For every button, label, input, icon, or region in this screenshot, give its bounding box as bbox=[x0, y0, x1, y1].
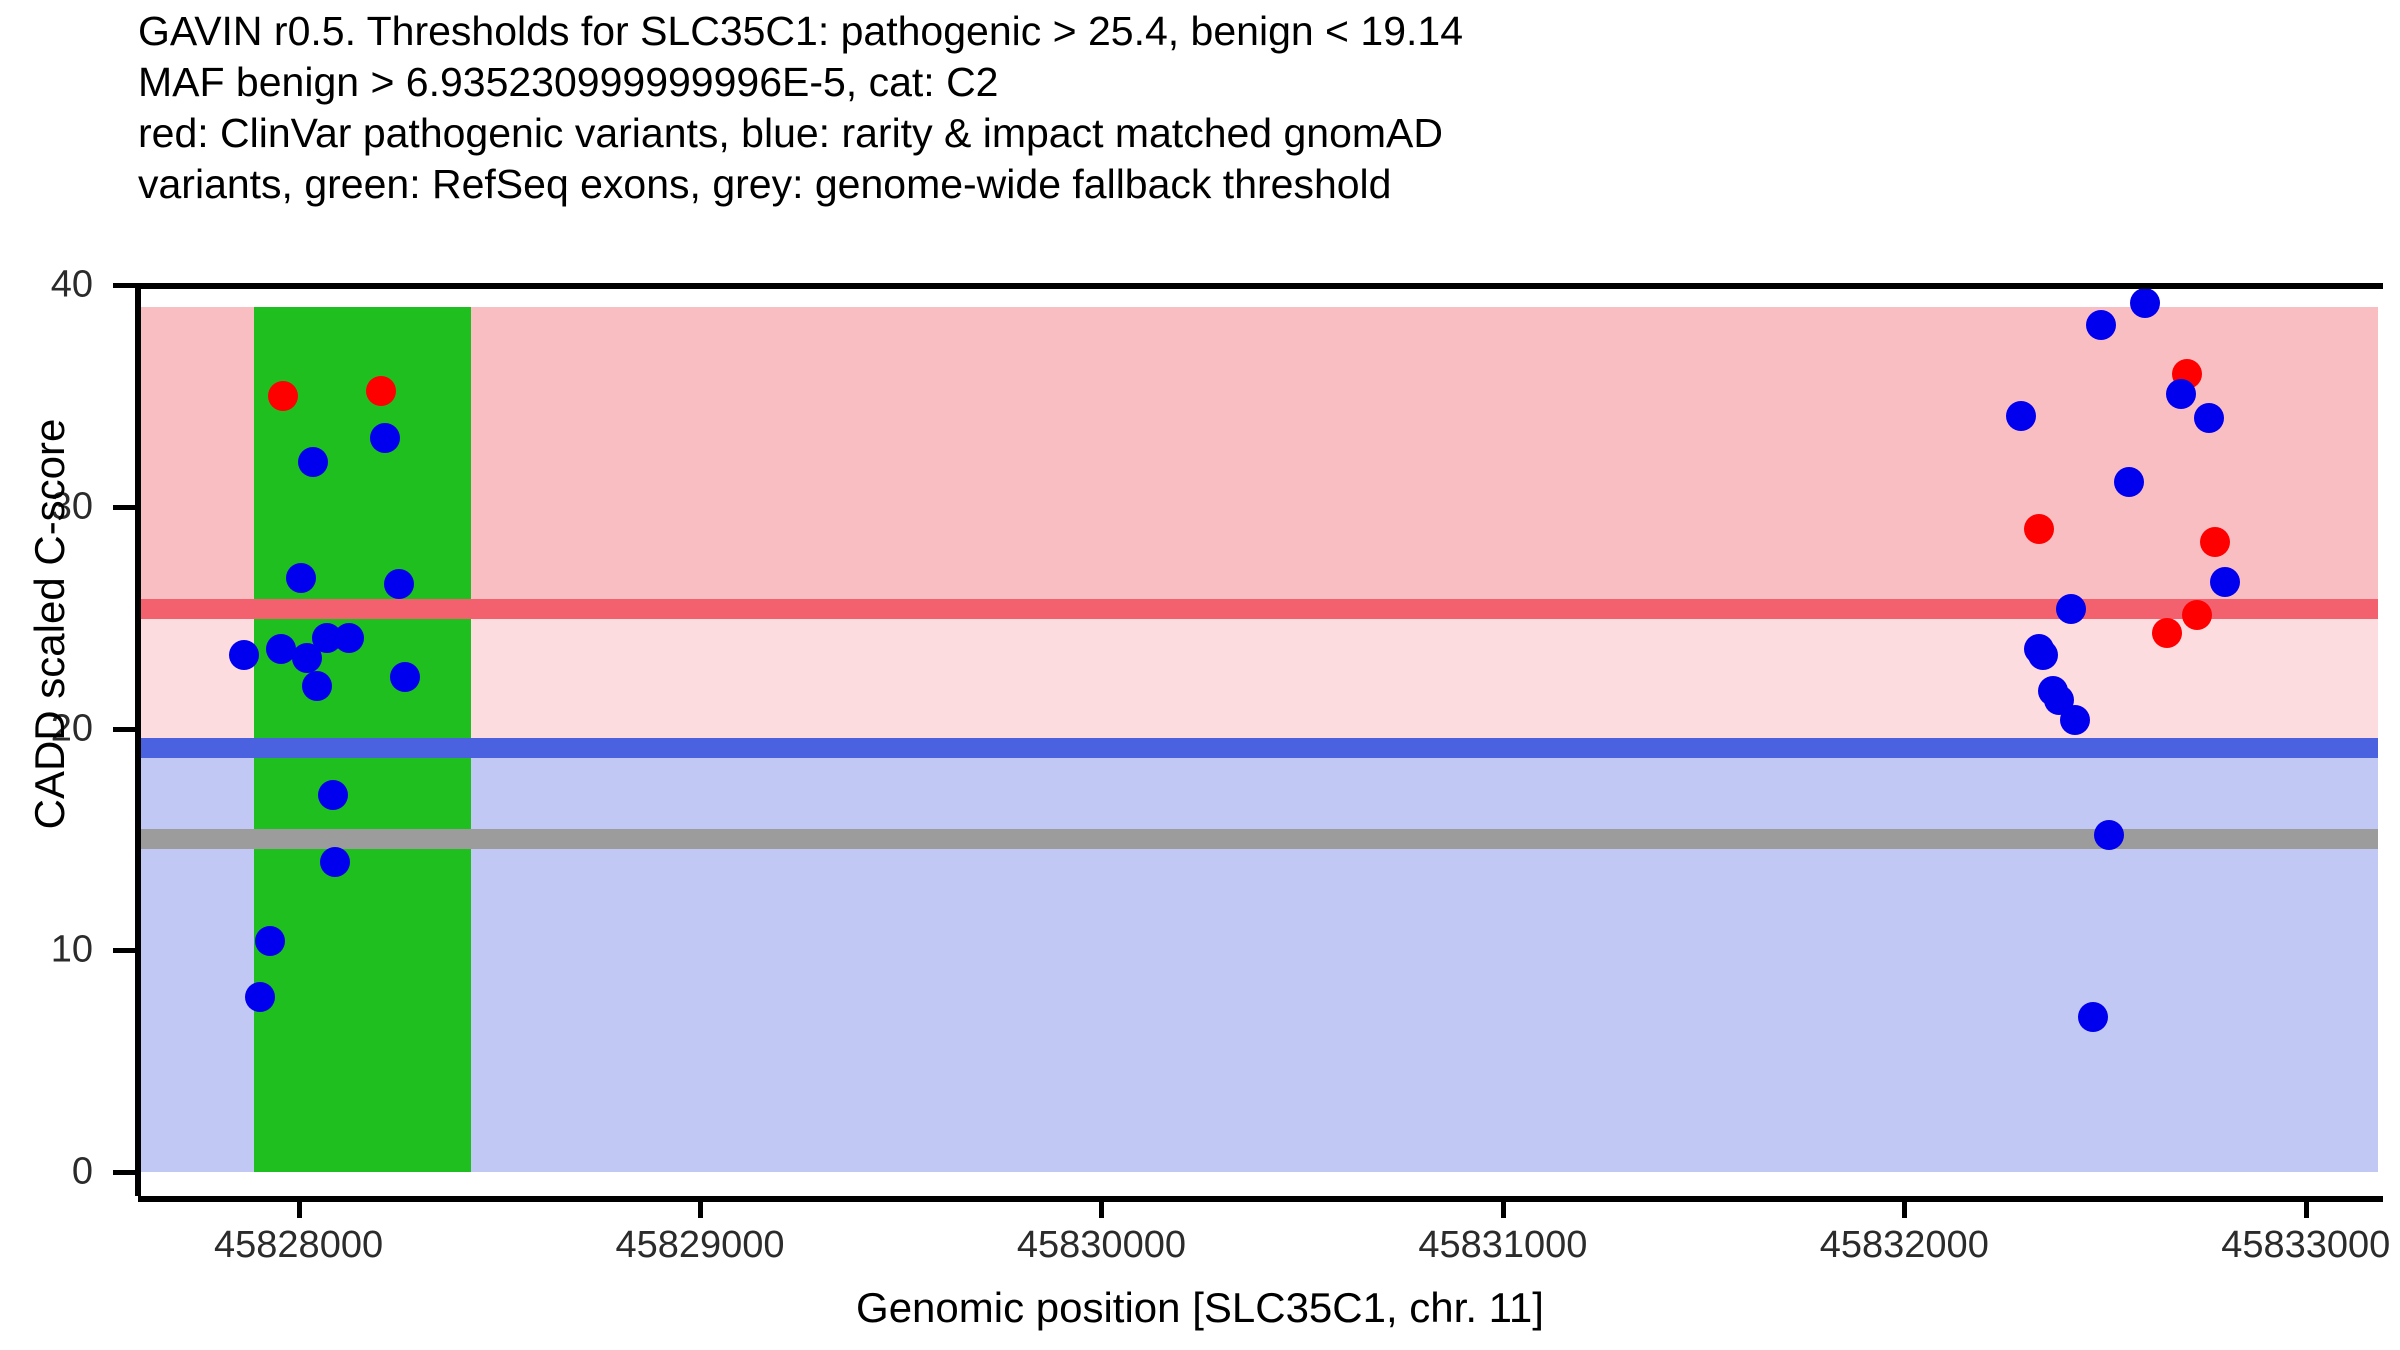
x-tick-label-45832000: 45832000 bbox=[1820, 1224, 1989, 1267]
clinvar-point[interactable] bbox=[2024, 514, 2054, 544]
gnomad-point[interactable] bbox=[370, 423, 400, 453]
x-tick-45831000 bbox=[1501, 1202, 1506, 1218]
x-axis-line bbox=[138, 1196, 2383, 1202]
benign-threshold-line bbox=[138, 738, 2378, 758]
gnomad-point[interactable] bbox=[2060, 705, 2090, 735]
x-tick-label-45830000: 45830000 bbox=[1017, 1224, 1186, 1267]
gnomad-point[interactable] bbox=[2130, 288, 2160, 318]
fallback-threshold-line bbox=[138, 829, 2378, 849]
title-line-2: MAF benign > 6.935230999999996E-5, cat: … bbox=[138, 57, 2238, 108]
plot-clip bbox=[138, 285, 2378, 1172]
chart-page: GAVIN r0.5. Thresholds for SLC35C1: path… bbox=[0, 0, 2400, 1350]
gnomad-point[interactable] bbox=[2166, 379, 2196, 409]
gnomad-point[interactable] bbox=[2006, 401, 2036, 431]
gnomad-point[interactable] bbox=[320, 847, 350, 877]
gnomad-point[interactable] bbox=[298, 447, 328, 477]
gnomad-point[interactable] bbox=[318, 780, 348, 810]
y-tick-0 bbox=[113, 1170, 135, 1175]
gnomad-point[interactable] bbox=[2056, 594, 2086, 624]
x-tick-label-45828000: 45828000 bbox=[214, 1224, 383, 1267]
x-tick-45828000 bbox=[297, 1202, 302, 1218]
y-tick-30 bbox=[113, 505, 135, 510]
title-line-4: variants, green: RefSeq exons, grey: gen… bbox=[138, 159, 2238, 210]
x-tick-45830000 bbox=[1099, 1202, 1104, 1218]
plot-area bbox=[138, 285, 2378, 1172]
ambiguous-band bbox=[138, 609, 2378, 748]
y-tick-label-0: 0 bbox=[72, 1151, 93, 1194]
x-tick-45832000 bbox=[1902, 1202, 1907, 1218]
y-axis-line bbox=[135, 283, 141, 1196]
x-axis-label: Genomic position [SLC35C1, chr. 11] bbox=[0, 1284, 2400, 1332]
chart-title: GAVIN r0.5. Thresholds for SLC35C1: path… bbox=[138, 6, 2238, 210]
title-line-3: red: ClinVar pathogenic variants, blue: … bbox=[138, 108, 2238, 159]
x-tick-label-45829000: 45829000 bbox=[615, 1224, 784, 1267]
plot-top-border bbox=[138, 283, 2383, 289]
gnomad-point[interactable] bbox=[2028, 640, 2058, 670]
gnomad-point[interactable] bbox=[286, 563, 316, 593]
gnomad-point[interactable] bbox=[334, 623, 364, 653]
gnomad-point[interactable] bbox=[2078, 1002, 2108, 1032]
x-tick-45829000 bbox=[698, 1202, 703, 1218]
y-axis-label: CADD scaled C-score bbox=[26, 244, 74, 1004]
benign-band bbox=[138, 748, 2378, 1172]
y-tick-40 bbox=[113, 283, 135, 288]
x-tick-label-45831000: 45831000 bbox=[1418, 1224, 1587, 1267]
gnomad-point[interactable] bbox=[302, 671, 332, 701]
gnomad-point[interactable] bbox=[2086, 310, 2116, 340]
x-tick-label-45833000: 45833000 bbox=[2221, 1224, 2390, 1267]
y-tick-20 bbox=[113, 727, 135, 732]
clinvar-point[interactable] bbox=[268, 381, 298, 411]
gnomad-point[interactable] bbox=[2094, 820, 2124, 850]
title-line-1: GAVIN r0.5. Thresholds for SLC35C1: path… bbox=[138, 6, 2238, 57]
gnomad-point[interactable] bbox=[266, 634, 296, 664]
pathogenic-threshold-line bbox=[138, 599, 2378, 619]
y-tick-10 bbox=[113, 948, 135, 953]
pathogenic-band bbox=[138, 307, 2378, 609]
x-tick-45833000 bbox=[2304, 1202, 2309, 1218]
